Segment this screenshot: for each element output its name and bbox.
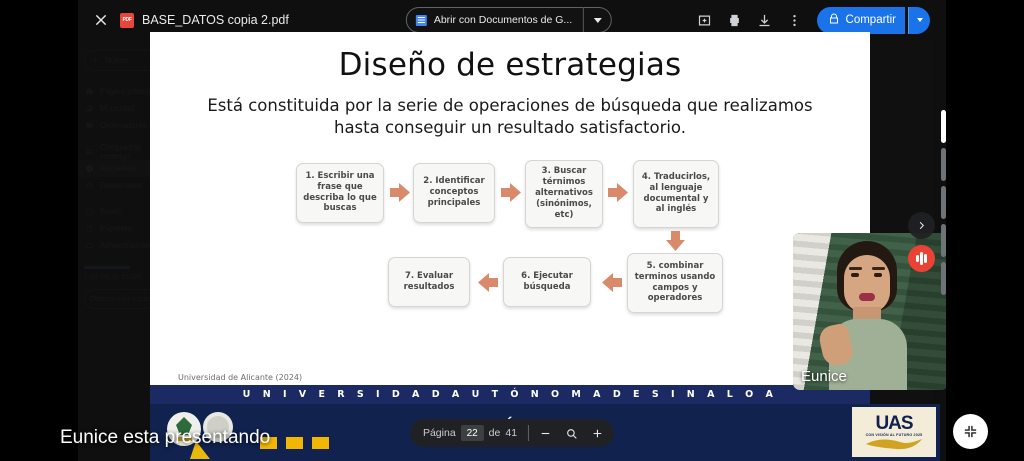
add-to-drive-button[interactable]	[691, 7, 718, 34]
rail-segment-active[interactable]	[941, 110, 946, 143]
arrow-right-icon-3	[608, 183, 628, 202]
slide-subtitle: Está constituida por la serie de operaci…	[192, 95, 828, 139]
google-docs-icon	[416, 15, 427, 26]
search-icon	[565, 427, 578, 440]
share-button[interactable]: Compartir	[817, 7, 905, 34]
more-options-icon	[787, 13, 802, 28]
eagle-icon	[864, 436, 924, 450]
mic-active-icon[interactable]	[908, 245, 935, 272]
open-with-group: Abrir con Documentos de G...	[406, 7, 612, 33]
flow-step-2: 2. Identificar conceptos principales	[413, 163, 495, 223]
download-button[interactable]	[751, 7, 778, 34]
uas-logo: UAS CON VISIÓN AL FUTURO 2025	[852, 407, 936, 457]
flow-step-5: 5. combinar terminos usando campos y ope…	[627, 253, 723, 313]
toolbar-actions: Compartir	[691, 7, 930, 34]
presenting-caption: Eunice esta presentando	[60, 427, 270, 449]
uas-logo-word: UAS	[875, 414, 912, 433]
screen-root: Nuevo Página principal Mi unidad Ordenad…	[0, 0, 1024, 461]
rail-segment[interactable]	[941, 262, 946, 295]
slide-credit: Universidad de Alicante (2024)	[178, 373, 302, 382]
pdf-file-icon: PDF	[120, 13, 134, 28]
chevron-down-icon	[917, 18, 923, 22]
zoom-in-button[interactable]	[584, 421, 610, 445]
file-name-label: BASE_DATOS copia 2.pdf	[142, 13, 289, 27]
minus-icon	[539, 427, 552, 440]
exit-fullscreen-icon	[962, 423, 979, 440]
flow-step-1: 1. Escribir una frase que describa lo qu…	[296, 163, 384, 223]
file-info: PDF BASE_DATOS copia 2.pdf	[120, 13, 289, 28]
next-participant-button[interactable]	[908, 212, 935, 239]
page-number-input[interactable]	[461, 425, 484, 441]
brow-right	[872, 267, 885, 270]
rail-segment[interactable]	[941, 186, 946, 219]
flow-step-4: 4. Traducirlos, al lenguaje documental y…	[633, 160, 719, 228]
exit-fullscreen-button[interactable]	[953, 414, 988, 449]
rail-segment[interactable]	[941, 224, 946, 257]
university-banner: U N I V E R S I D A D A U T Ó N O M A D …	[150, 385, 870, 404]
rail-segment[interactable]	[941, 148, 946, 181]
eye-left	[851, 273, 859, 277]
print-icon	[727, 13, 742, 28]
eye-right	[874, 273, 882, 277]
arrow-down-icon	[666, 231, 685, 251]
search-button[interactable]	[558, 421, 584, 445]
right-gutter	[946, 0, 1024, 461]
flowchart: 1. Escribir una frase que describa lo qu…	[150, 155, 870, 320]
chevron-right-icon	[916, 220, 927, 231]
page-rail[interactable]	[941, 110, 946, 300]
page-total-label: 41	[505, 427, 525, 439]
close-button[interactable]	[88, 7, 114, 33]
share-label: Compartir	[846, 14, 896, 26]
flow-step-6: 6. Ejecutar búsqueda	[503, 257, 591, 307]
arrow-left-icon-2	[478, 273, 498, 292]
arrow-left-icon	[602, 273, 622, 292]
participant-name-label: Eunice	[801, 368, 847, 385]
divider	[528, 425, 529, 441]
page-of-label: de	[484, 427, 506, 439]
face-shape	[844, 255, 890, 313]
open-with-dropdown-button[interactable]	[584, 7, 612, 33]
slide-title: Diseño de estrategias	[150, 47, 870, 83]
zoom-out-button[interactable]	[532, 421, 558, 445]
open-with-button[interactable]: Abrir con Documentos de G...	[406, 7, 584, 33]
page-controls: Página de 41	[410, 419, 614, 447]
decorative-squares	[260, 437, 329, 449]
lock-icon	[828, 13, 840, 28]
chevron-down-icon	[594, 18, 602, 23]
lips-shape	[859, 293, 875, 301]
page-label: Página	[414, 427, 461, 439]
download-icon	[757, 13, 772, 28]
more-options-button[interactable]	[781, 7, 808, 34]
arrow-right-icon-2	[501, 183, 521, 202]
flow-step-7: 7. Evaluar resultados	[388, 257, 470, 307]
open-with-label: Abrir con Documentos de G...	[434, 14, 572, 26]
plus-icon	[591, 427, 604, 440]
pdf-page[interactable]: Diseño de estrategias Está constituida p…	[150, 32, 870, 404]
add-to-drive-icon	[697, 13, 712, 28]
close-icon	[94, 13, 108, 27]
share-dropdown-button[interactable]	[908, 7, 930, 34]
print-button[interactable]	[721, 7, 748, 34]
flow-step-3: 3. Buscar térnimos alternativos (sinónim…	[525, 160, 603, 228]
arrow-right-icon	[390, 183, 410, 202]
left-gutter	[0, 0, 78, 461]
brow-left	[849, 267, 862, 270]
